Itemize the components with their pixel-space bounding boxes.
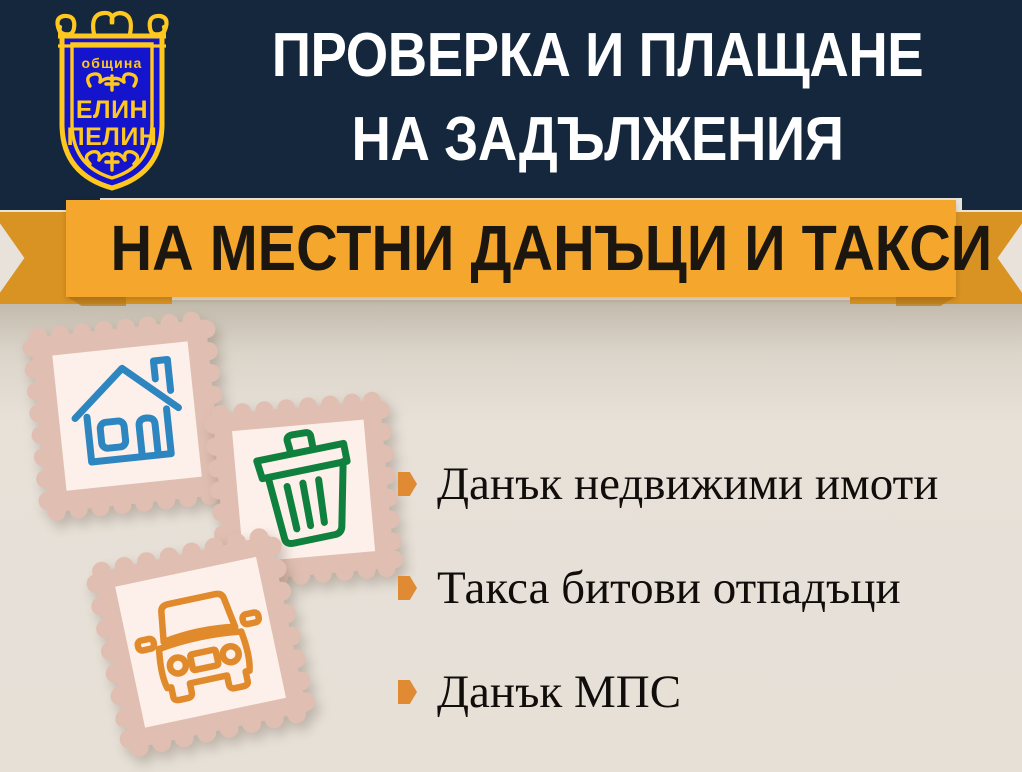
- list-item[interactable]: Данък МПС: [398, 640, 1012, 744]
- ribbon-banner: НА МЕСТНИ ДАНЪЦИ И ТАКСИ: [0, 196, 1022, 308]
- stamp-card-vehicle-tax: [82, 528, 342, 772]
- ribbon-band: НА МЕСТНИ ДАНЪЦИ И ТАКСИ: [66, 200, 956, 297]
- stamp-car: [82, 528, 342, 772]
- page-title-line-1: ПРОВЕРКА И ПЛАЩАНЕ: [235, 14, 961, 98]
- services-list: Данък недвижими имоти Такса битови отпад…: [398, 432, 1012, 744]
- logo-name-line-1: ЕЛИН: [76, 96, 148, 124]
- coat-of-arms-icon: община ЕЛИН ПЕЛИН: [38, 6, 186, 192]
- service-label-property-tax: Данък недвижими имоти: [437, 458, 938, 510]
- arrow-bullet-icon: [398, 472, 417, 496]
- ribbon-fold-shadow-left: [66, 296, 126, 306]
- list-item[interactable]: Такса битови отпадъци: [398, 536, 1012, 640]
- logo-name-line-2: ПЕЛИН: [67, 123, 158, 151]
- ribbon-fold-shadow-right: [896, 296, 956, 306]
- page-title-line-2: НА ЗАДЪЛЖЕНИЯ: [235, 98, 961, 182]
- service-label-waste-fee: Такса битови отпадъци: [437, 562, 901, 614]
- poster-canvas: ПРОВЕРКА И ПЛАЩАНЕ НА ЗАДЪЛЖЕНИЯ община: [0, 0, 1022, 772]
- ribbon-label: НА МЕСТНИ ДАНЪЦИ И ТАКСИ: [111, 211, 912, 285]
- page-title: ПРОВЕРКА И ПЛАЩАНЕ НА ЗАДЪЛЖЕНИЯ: [235, 14, 961, 182]
- list-item[interactable]: Данък недвижими имоти: [398, 432, 1012, 536]
- municipality-logo: община ЕЛИН ПЕЛИН: [38, 6, 186, 192]
- service-label-vehicle-tax: Данък МПС: [437, 666, 681, 718]
- logo-municipality-word: община: [81, 55, 142, 71]
- arrow-bullet-icon: [398, 576, 417, 600]
- arrow-bullet-icon: [398, 680, 417, 704]
